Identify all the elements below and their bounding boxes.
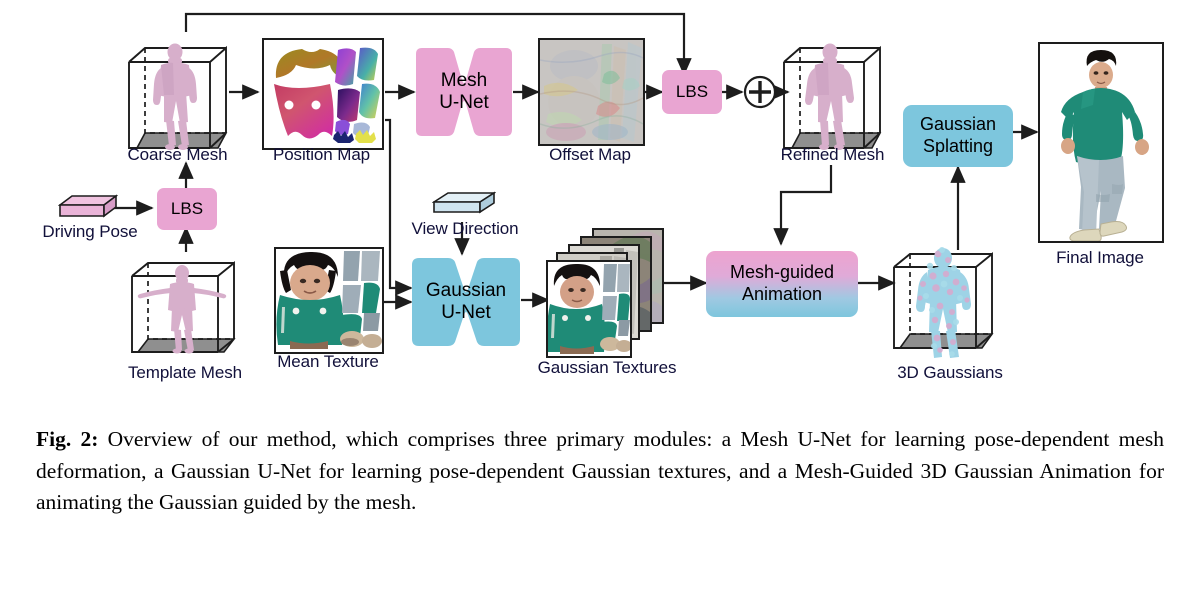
mesh-guided-animation-module[interactable]: Mesh-guided Animation [706, 251, 858, 317]
mesh-guided-animation-label-line1: Mesh-guided [730, 262, 834, 284]
three-d-gaussians-label: 3D Gaussians [880, 363, 1020, 383]
figure-number: Fig. 2: [36, 427, 98, 451]
gaussian-splatting-label-line2: Splatting [923, 136, 993, 158]
gaussian-unet-label-line1: Gaussian [426, 280, 506, 302]
gaussian-splatting-label-line1: Gaussian [920, 114, 996, 136]
gaussian-textures-stack [546, 228, 661, 346]
gaussian-textures-label: Gaussian Textures [512, 358, 702, 378]
template-mesh-box3d [128, 247, 244, 365]
lbs-bottom-label: LBS [171, 199, 203, 219]
lbs-top-label: LBS [676, 82, 708, 102]
figure-caption: Fig. 2: Overview of our method, which co… [36, 424, 1164, 519]
mesh-unet-module[interactable]: Mesh U-Net [414, 42, 514, 142]
lbs-top-module[interactable]: LBS [662, 70, 722, 114]
three-d-gaussians-box3d [890, 238, 1002, 362]
figure-caption-text: Overview of our method, which comprises … [36, 427, 1164, 514]
refined-mesh-label: Refined Mesh [765, 145, 900, 165]
lbs-bottom-module[interactable]: LBS [157, 188, 217, 230]
gaussian-unet-label-line2: U-Net [441, 302, 491, 324]
mesh-unet-label-line2: U-Net [439, 92, 489, 114]
position-map-label: Position Map [255, 145, 388, 165]
offset-map-plate [538, 38, 645, 146]
pipeline-figure: Coarse Mesh [0, 0, 1197, 410]
position-map-plate [262, 38, 384, 150]
template-mesh-label: Template Mesh [110, 363, 260, 383]
coarse-mesh-label: Coarse Mesh [110, 145, 245, 165]
gaussian-texture-plate-1 [546, 260, 632, 358]
driving-pose-label: Driving Pose [20, 222, 160, 242]
sum-junction [742, 74, 778, 110]
mesh-guided-animation-label-line2: Animation [742, 284, 822, 306]
mean-texture-label: Mean Texture [262, 352, 394, 372]
coarse-mesh-box3d [125, 30, 230, 162]
final-image-label: Final Image [1030, 248, 1170, 268]
view-direction-label: View Direction [395, 219, 535, 239]
mesh-unet-label-line1: Mesh [441, 70, 487, 92]
gaussian-unet-module[interactable]: Gaussian U-Net [410, 252, 522, 352]
refined-mesh-box3d [780, 30, 884, 162]
gaussian-splatting-module[interactable]: Gaussian Splatting [903, 105, 1013, 167]
offset-map-label: Offset Map [525, 145, 655, 165]
final-image-plate [1038, 42, 1164, 243]
mean-texture-plate [274, 247, 384, 354]
